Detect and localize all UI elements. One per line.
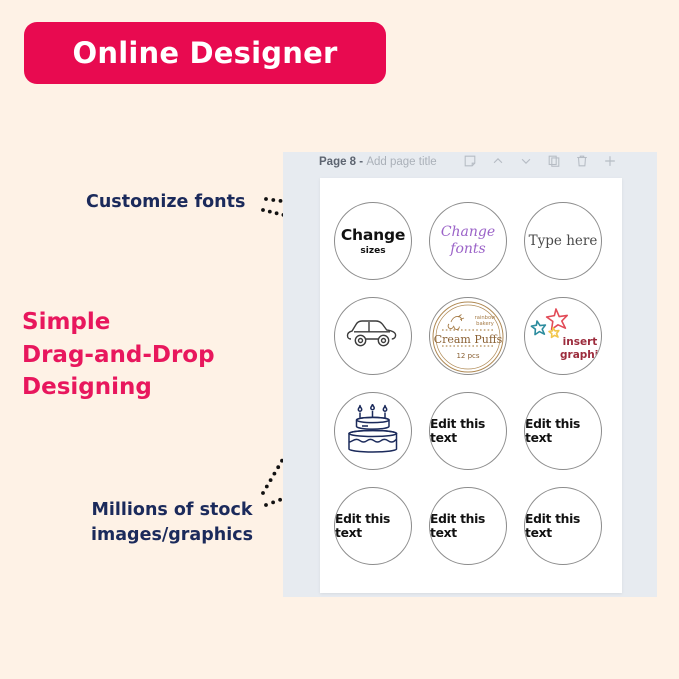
annotation-customize-fonts: Customize fonts <box>86 190 245 215</box>
headline-line2: Drag-and-Drop <box>22 339 215 372</box>
cake-icon <box>345 404 401 459</box>
label-text-script: Change fonts <box>441 224 495 258</box>
plus-icon[interactable] <box>603 154 617 168</box>
trash-icon[interactable] <box>575 154 589 168</box>
sticker-brand: rainbow bakery <box>469 316 501 328</box>
insert-line2: graphics <box>560 349 600 362</box>
label-text: Edit this text <box>430 512 506 540</box>
label-text-hand: Type here <box>529 233 598 249</box>
label-circle-edit-text-2[interactable]: Edit this text <box>524 392 602 470</box>
page-title-placeholder: Add page title <box>366 156 436 168</box>
label-text: Edit this text <box>430 417 506 445</box>
page-number-label: Page 8 - <box>319 156 366 168</box>
label-text: Edit this text <box>335 512 411 540</box>
sticker-product-name: Cream Puffs <box>429 333 507 346</box>
label-circle-edit-text-3[interactable]: Edit this text <box>334 487 412 565</box>
label-circle-car[interactable] <box>334 297 412 375</box>
label-circle-change-sizes[interactable]: Change sizes <box>334 202 412 280</box>
annotation-stock-line1: Millions of stock <box>86 498 258 523</box>
label-grid: Change sizes Change fonts Type here <box>320 192 622 592</box>
editor-toolbar: Page 8 - Add page title <box>283 152 657 178</box>
annotation-stock-line2: images/graphics <box>86 523 258 548</box>
car-icon <box>346 317 400 356</box>
annotation-stock-images: Millions of stock images/graphics <box>86 498 258 549</box>
label-circle-edit-text-5[interactable]: Edit this text <box>524 487 602 565</box>
label-circle-type-here[interactable]: Type here <box>524 202 602 280</box>
sticker-graphic: rainbow bakery Cream Puffs 12 pcs <box>429 298 507 374</box>
page-title-field[interactable]: Page 8 - Add page title <box>319 156 437 168</box>
label-script-line1: Change <box>441 224 495 241</box>
insert-line1: insert <box>560 336 600 349</box>
title-badge-label: Online Designer <box>73 36 338 70</box>
headline-line1: Simple <box>22 306 215 339</box>
label-text-secondary: sizes <box>360 246 385 256</box>
label-circle-edit-text-1[interactable]: Edit this text <box>429 392 507 470</box>
label-text: Edit this text <box>525 417 601 445</box>
label-circle-insert-graphics[interactable]: insert graphics <box>524 297 602 375</box>
insert-graphics-text: insert graphics <box>560 336 600 361</box>
label-text: Edit this text <box>525 512 601 540</box>
headline: Simple Drag-and-Drop Designing <box>22 306 215 404</box>
stars-graphic-wrap: insert graphics <box>524 298 602 374</box>
chevron-down-icon[interactable] <box>519 154 533 168</box>
label-circle-cream-puffs-sticker[interactable]: rainbow bakery Cream Puffs 12 pcs <box>429 297 507 375</box>
label-circle-change-fonts[interactable]: Change fonts <box>429 202 507 280</box>
label-script-line2: fonts <box>441 241 495 258</box>
title-badge: Online Designer <box>24 22 386 84</box>
label-text-primary: Change <box>341 226 405 244</box>
note-icon[interactable] <box>463 154 477 168</box>
duplicate-icon[interactable] <box>547 154 561 168</box>
headline-line3: Designing <box>22 371 215 404</box>
editor-panel: Page 8 - Add page title <box>283 152 657 597</box>
sticker-quantity: 12 pcs <box>429 352 507 360</box>
chevron-up-icon[interactable] <box>491 154 505 168</box>
label-circle-edit-text-4[interactable]: Edit this text <box>429 487 507 565</box>
editor-canvas[interactable]: Change sizes Change fonts Type here <box>320 178 622 593</box>
label-circle-cake[interactable] <box>334 392 412 470</box>
sticker-brand-line2: bakery <box>469 322 501 328</box>
toolbar-icon-group <box>463 154 617 168</box>
